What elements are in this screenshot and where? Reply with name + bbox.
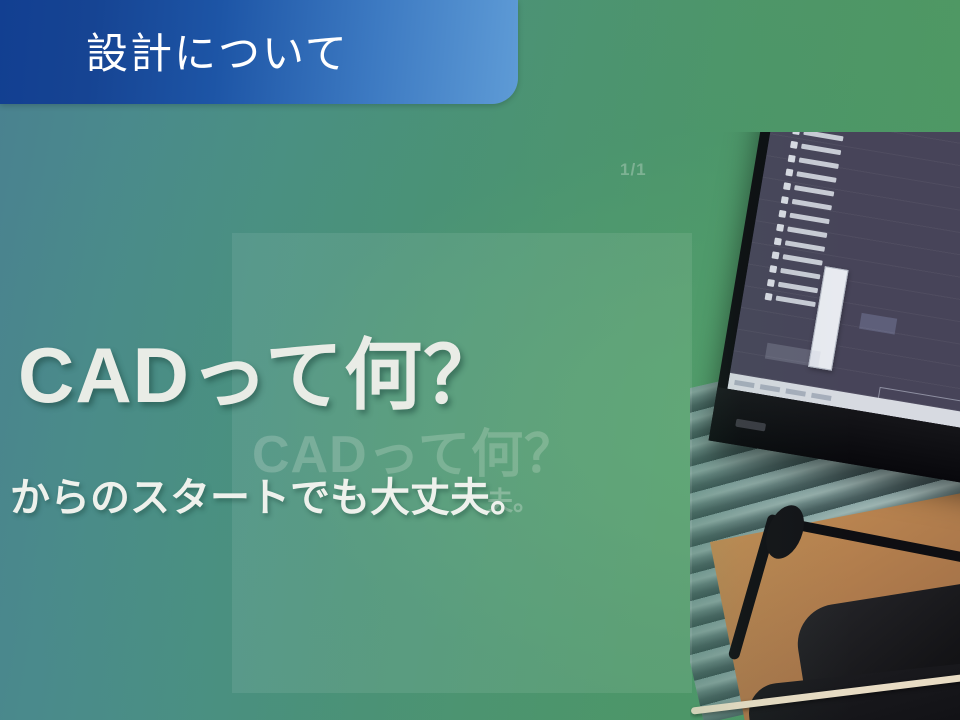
photo-monitor-desk — [690, 132, 960, 720]
page-title: CADって何？ — [18, 336, 502, 414]
page-subtitle: からのスタートでも大丈夫。 — [10, 478, 530, 518]
cad-status-item — [785, 388, 806, 396]
layer-label — [794, 185, 834, 197]
layer-label — [778, 282, 818, 294]
cad-status-item — [760, 384, 781, 392]
overlay-panel — [232, 233, 692, 693]
photo-inner — [690, 132, 960, 720]
layer-label — [780, 268, 820, 280]
layer-label — [803, 132, 843, 141]
monitor-brand-logo — [735, 419, 766, 432]
slide-canvas: CADって何？ 夫。 1/1 CADって何？ からのスタートでも大丈夫。 設計に… — [0, 0, 960, 720]
layer-swatch-icon — [790, 141, 798, 149]
layer-label — [799, 157, 839, 169]
layer-label — [785, 240, 825, 252]
layer-swatch-icon — [788, 155, 796, 163]
layer-swatch-icon — [792, 132, 800, 135]
layer-label — [801, 144, 841, 156]
cad-status-item — [734, 379, 755, 387]
header-banner: 設計について — [0, 0, 518, 104]
layer-swatch-icon — [774, 237, 782, 245]
header-banner-title: 設計について — [86, 20, 349, 81]
layer-label — [792, 199, 832, 211]
layer-swatch-icon — [778, 210, 786, 218]
layer-swatch-icon — [783, 182, 791, 190]
layer-swatch-icon — [765, 293, 773, 301]
layer-swatch-icon — [767, 279, 775, 287]
layer-label — [776, 296, 816, 308]
layer-label — [783, 254, 823, 266]
cad-drawing-shape — [859, 313, 897, 335]
layer-label — [789, 213, 829, 225]
layer-swatch-icon — [781, 196, 789, 204]
layer-swatch-icon — [769, 265, 777, 273]
cad-status-item — [811, 392, 832, 400]
layer-swatch-icon — [785, 168, 793, 176]
layer-label — [787, 226, 827, 238]
layer-swatch-icon — [771, 251, 779, 259]
layer-label — [796, 171, 836, 183]
cad-layer-panel — [764, 132, 873, 317]
layer-swatch-icon — [776, 224, 784, 232]
page-counter: 1/1 — [620, 160, 647, 180]
